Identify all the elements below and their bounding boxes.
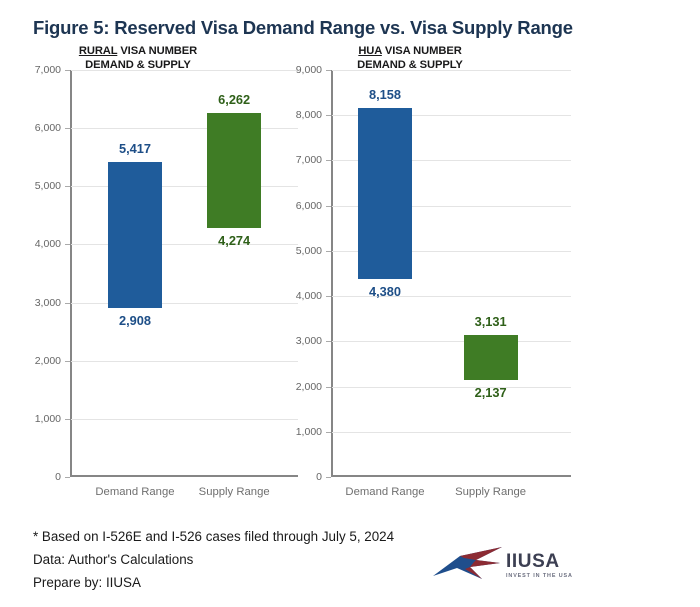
x-axis-category-label: Supply Range [199,486,270,498]
y-axis-tick-label: 4,000 [296,290,322,302]
y-axis-line [331,70,333,477]
y-axis-tick-label: 6,000 [296,200,322,212]
chart-rural-heading-keyword: RURAL [79,45,117,57]
logo-tagline: INVEST IN THE USA [506,573,573,579]
footnote-prepared-by-line: Prepare by: IIUSA [33,571,394,594]
y-axis-tick-label: 0 [55,471,61,483]
footnote-data-line: Data: Author's Calculations [33,548,394,571]
bar-label-high: 5,417 [119,141,151,156]
gridline [332,341,571,342]
gridline [332,70,571,71]
y-axis-tick [65,477,70,478]
bar-label-high: 6,262 [218,92,250,107]
y-axis-tick [326,477,331,478]
chart-rural-visa-number: RURAL VISA NUMBER DEMAND & SUPPLY 01,000… [14,44,300,504]
y-axis-tick [326,387,331,388]
y-axis-tick-label: 1,000 [35,413,61,425]
y-axis-tick-label: 6,000 [35,122,61,134]
y-axis-tick-label: 9,000 [296,64,322,76]
y-axis-tick-label: 0 [316,471,322,483]
chart-hua-heading: HUA VISA NUMBER DEMAND & SUPPLY [310,44,510,72]
gridline [71,128,298,129]
plot-area-rural: 01,0002,0003,0004,0005,0006,0007,0005,41… [70,70,298,477]
y-axis-tick [326,70,331,71]
gridline [332,387,571,388]
y-axis-tick [326,296,331,297]
iiusa-logo: IIUSA INVEST IN THE USA [430,543,600,591]
star-swoosh-icon [430,543,504,583]
x-axis-category-label: Demand Range [95,486,174,498]
x-axis-line [70,475,298,477]
bar-label-low: 4,274 [218,233,250,248]
y-axis-tick-label: 3,000 [35,297,61,309]
page-title: Figure 5: Reserved Visa Demand Range vs.… [33,17,573,39]
chart-rural-heading: RURAL VISA NUMBER DEMAND & SUPPLY [38,44,238,72]
x-axis-category-label: Supply Range [455,486,526,498]
bar-label-low: 2,137 [475,385,507,400]
gridline [71,361,298,362]
y-axis-tick [65,419,70,420]
bar-label-high: 8,158 [369,87,401,102]
gridline [332,432,571,433]
gridline [71,244,298,245]
y-axis-tick-label: 2,000 [35,355,61,367]
y-axis-tick-label: 7,000 [35,64,61,76]
y-axis-tick-label: 1,000 [296,426,322,438]
y-axis-tick [326,251,331,252]
gridline [71,419,298,420]
chart-hua-heading-keyword: HUA [358,45,382,57]
y-axis-tick [65,244,70,245]
y-axis-tick-label: 4,000 [35,238,61,250]
chart-hua-heading-rest: VISA NUMBER [382,45,462,57]
y-axis-tick [65,303,70,304]
bar-label-high: 3,131 [475,314,507,329]
gridline [332,296,571,297]
bar-rural-demand [108,162,162,308]
gridline [71,70,298,71]
chart-hua-visa-number: HUA VISA NUMBER DEMAND & SUPPLY 01,0002,… [285,44,585,504]
logo-name: IIUSA [506,552,573,571]
bar-rural-supply [207,113,261,229]
bar-hua-supply [464,335,518,380]
x-axis-line [331,475,571,477]
y-axis-line [70,70,72,477]
y-axis-tick [326,341,331,342]
y-axis-tick-label: 5,000 [35,180,61,192]
y-axis-tick [65,361,70,362]
y-axis-tick-label: 7,000 [296,154,322,166]
y-axis-tick-label: 3,000 [296,335,322,347]
y-axis-tick [326,160,331,161]
gridline [71,186,298,187]
bar-hua-demand [358,108,412,279]
y-axis-tick [65,186,70,187]
bar-label-low: 4,380 [369,284,401,299]
gridline [71,303,298,304]
y-axis-tick-label: 8,000 [296,109,322,121]
y-axis-tick-label: 5,000 [296,245,322,257]
logo-wordmark: IIUSA INVEST IN THE USA [506,552,573,579]
footnote-source-line: * Based on I-526E and I-526 cases filed … [33,525,394,548]
chart-rural-heading-rest: VISA NUMBER [117,45,197,57]
plot-area-hua: 01,0002,0003,0004,0005,0006,0007,0008,00… [331,70,571,477]
y-axis-tick-label: 2,000 [296,381,322,393]
y-axis-tick [326,206,331,207]
x-axis-category-label: Demand Range [345,486,424,498]
bar-label-low: 2,908 [119,313,151,328]
y-axis-tick [65,70,70,71]
y-axis-tick [65,128,70,129]
y-axis-tick [326,115,331,116]
y-axis-tick [326,432,331,433]
footer-notes: * Based on I-526E and I-526 cases filed … [33,525,394,594]
